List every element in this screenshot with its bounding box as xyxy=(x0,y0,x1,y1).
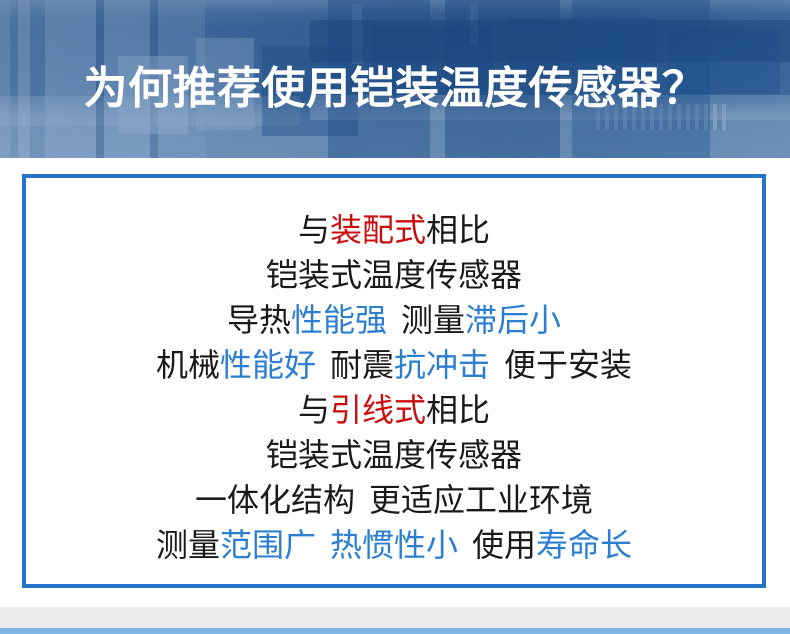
body-text: 铠装式温度传感器 xyxy=(266,436,522,474)
page-root: 为何推荐使用铠装温度传感器？ 与装配式相比铠装式温度传感器导热性能强测量滞后小机… xyxy=(0,0,790,634)
footer-blue-band xyxy=(0,628,790,634)
content-card: 与装配式相比铠装式温度传感器导热性能强测量滞后小机械性能好耐震抗冲击便于安装与引… xyxy=(0,158,790,607)
feature-line: 铠装式温度传感器 xyxy=(26,433,762,478)
blue-border-frame: 与装配式相比铠装式温度传感器导热性能强测量滞后小机械性能好耐震抗冲击便于安装与引… xyxy=(22,174,766,588)
hero-title: 为何推荐使用铠装温度传感器？ xyxy=(0,67,790,111)
highlight-blue-text: 滞后小 xyxy=(465,301,561,339)
body-text: 相比 xyxy=(426,391,490,429)
body-text: 相比 xyxy=(426,211,490,249)
body-text: 铠装式温度传感器 xyxy=(266,256,522,294)
body-text: 使用 xyxy=(472,526,536,564)
feature-line: 与引线式相比 xyxy=(26,388,762,433)
feature-line: 机械性能好耐震抗冲击便于安装 xyxy=(26,343,762,388)
highlight-blue-text: 寿命长 xyxy=(536,526,632,564)
feature-line: 测量范围广热惯性小使用寿命长 xyxy=(26,523,762,568)
hero-banner: 为何推荐使用铠装温度传感器？ xyxy=(0,0,790,158)
feature-line: 铠装式温度传感器 xyxy=(26,253,762,298)
feature-line: 导热性能强测量滞后小 xyxy=(26,298,762,343)
highlight-blue-text: 性能好 xyxy=(220,346,316,384)
highlight-red-text: 装配式 xyxy=(330,211,426,249)
feature-text-block: 与装配式相比铠装式温度传感器导热性能强测量滞后小机械性能好耐震抗冲击便于安装与引… xyxy=(26,208,762,568)
body-text: 测量 xyxy=(401,301,465,339)
body-text: 机械 xyxy=(156,346,220,384)
highlight-blue-text: 性能强 xyxy=(291,301,387,339)
highlight-red-text: 引线式 xyxy=(330,391,426,429)
body-text: 导热 xyxy=(227,301,291,339)
body-text: 一体化结构 xyxy=(195,481,355,519)
body-text: 与 xyxy=(298,391,330,429)
highlight-blue-text: 范围广 xyxy=(220,526,316,564)
body-text: 便于安装 xyxy=(504,346,632,384)
body-text: 与 xyxy=(298,211,330,249)
body-text: 耐震 xyxy=(330,346,394,384)
feature-line: 与装配式相比 xyxy=(26,208,762,253)
highlight-blue-text: 热惯性小 xyxy=(330,526,458,564)
feature-line: 一体化结构更适应工业环境 xyxy=(26,478,762,523)
highlight-blue-text: 抗冲击 xyxy=(394,346,490,384)
body-text: 测量 xyxy=(156,526,220,564)
body-text: 更适应工业环境 xyxy=(369,481,593,519)
footer-gray-band xyxy=(0,607,790,628)
